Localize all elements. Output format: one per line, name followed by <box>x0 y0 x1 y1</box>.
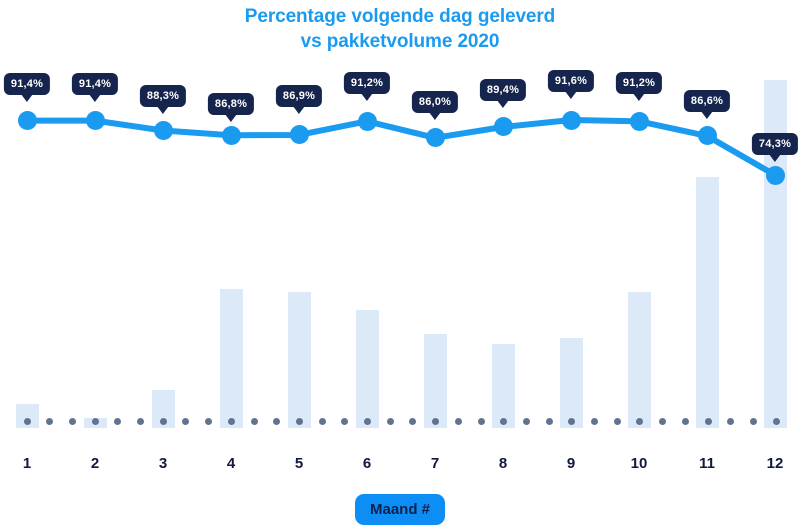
line-marker-month-2[interactable] <box>86 111 105 130</box>
line-marker-month-6[interactable] <box>358 112 377 131</box>
data-label-month-10: 91,2% <box>616 72 662 94</box>
line-series-percentage <box>0 0 800 532</box>
x-tick-5: 5 <box>295 455 303 472</box>
line-marker-month-11[interactable] <box>698 126 717 145</box>
line-marker-month-8[interactable] <box>494 117 513 136</box>
x-tick-10: 10 <box>631 455 648 472</box>
x-tick-6: 6 <box>363 455 371 472</box>
data-label-month-7: 86,0% <box>412 91 458 113</box>
x-tick-7: 7 <box>431 455 439 472</box>
line-marker-month-10[interactable] <box>630 112 649 131</box>
x-axis-label-badge: Maand # <box>355 494 445 525</box>
x-tick-9: 9 <box>567 455 575 472</box>
line-marker-month-4[interactable] <box>222 126 241 145</box>
data-label-month-5: 86,9% <box>276 85 322 107</box>
chart-container: Percentage volgende dag geleverd vs pakk… <box>0 0 800 532</box>
line-marker-month-9[interactable] <box>562 111 581 130</box>
x-tick-12: 12 <box>767 455 784 472</box>
data-label-month-6: 91,2% <box>344 72 390 94</box>
data-label-month-12: 74,3% <box>752 133 798 155</box>
x-tick-11: 11 <box>699 455 715 472</box>
x-tick-2: 2 <box>91 455 99 472</box>
x-tick-4: 4 <box>227 455 235 472</box>
data-label-month-4: 86,8% <box>208 93 254 115</box>
data-label-month-2: 91,4% <box>72 73 118 95</box>
line-marker-month-5[interactable] <box>290 125 309 144</box>
data-label-month-8: 89,4% <box>480 79 526 101</box>
data-label-month-11: 86,6% <box>684 90 730 112</box>
data-label-month-9: 91,6% <box>548 70 594 92</box>
x-tick-1: 1 <box>23 455 31 472</box>
line-marker-month-7[interactable] <box>426 128 445 147</box>
data-label-month-3: 88,3% <box>140 85 186 107</box>
plot-area: 91,4%91,4%88,3%86,8%86,9%91,2%86,0%89,4%… <box>0 0 800 532</box>
line-marker-month-3[interactable] <box>154 121 173 140</box>
x-tick-8: 8 <box>499 455 507 472</box>
data-label-month-1: 91,4% <box>4 73 50 95</box>
x-tick-3: 3 <box>159 455 167 472</box>
line-marker-month-1[interactable] <box>18 111 37 130</box>
line-marker-month-12[interactable] <box>766 166 785 185</box>
